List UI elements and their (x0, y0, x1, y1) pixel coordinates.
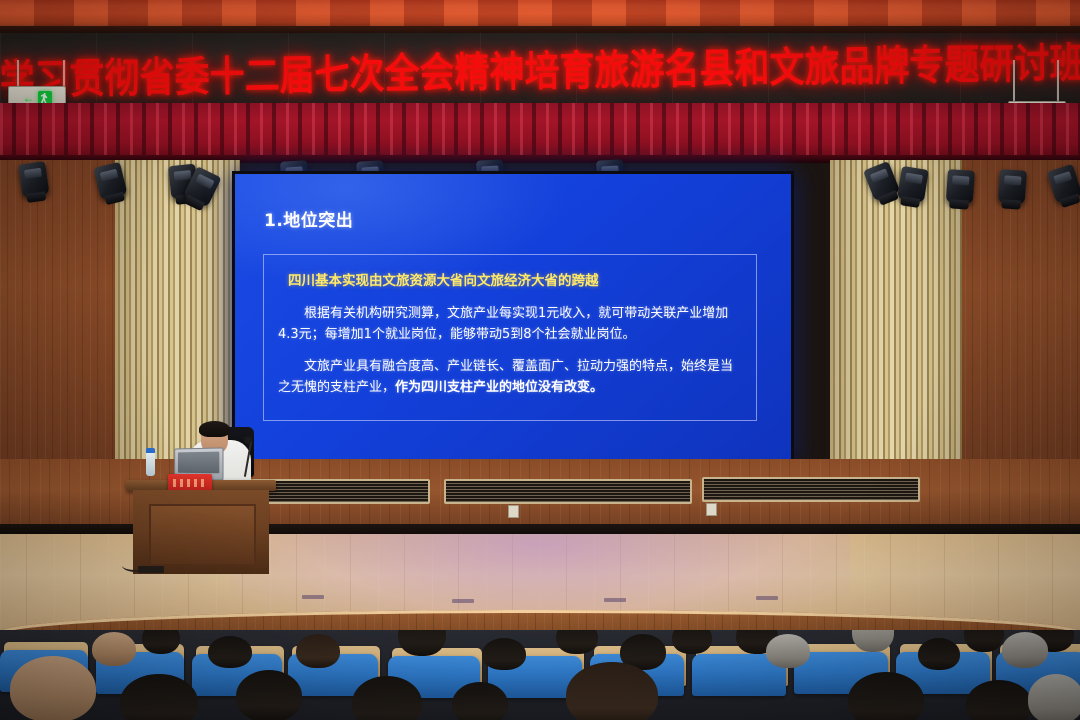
slide-paragraph-2-bold: 作为四川支柱产业的地位没有改变。 (395, 380, 603, 395)
stage-light-11 (946, 169, 975, 204)
audience-head (766, 634, 810, 668)
wall-outlet-1 (508, 505, 519, 518)
floor-marker-2 (452, 599, 474, 603)
audience-head-foreground (566, 662, 658, 720)
wall-vent-2 (444, 479, 692, 504)
audience-head (918, 638, 960, 670)
presenter-hair (199, 421, 230, 437)
slide-heading: 四川基本实现由文旅资源大省向文旅经济大省的跨越 (288, 269, 742, 289)
audience-head-foreground (966, 680, 1032, 720)
audience-head-foreground (1028, 674, 1080, 720)
floor-cable-box (138, 566, 164, 573)
valance-pleats (0, 103, 1080, 161)
floor-marker-4 (756, 596, 778, 600)
audience-head (482, 638, 526, 670)
exit-sign-rod-right-b (1057, 60, 1059, 102)
water-bottle-cap (146, 448, 155, 453)
lectern-front-panel (149, 504, 256, 566)
stage-light-12 (998, 169, 1027, 204)
wall-outlet-2 (706, 503, 717, 516)
slide-surface: 1.地位突出 四川基本实现由文旅资源大省向文旅经济大省的跨越 根据有关机构研究测… (235, 174, 791, 462)
audience-head (672, 630, 712, 654)
slide-paragraph-1-text: 根据有关机构研究测算，文旅产业每实现1元收入，就可带动关联产业增加4.3元；每增… (278, 306, 728, 342)
slide-title: 1.地位突出 (264, 206, 353, 231)
audience-head-foreground (848, 672, 924, 720)
stage-light-1 (18, 161, 49, 197)
floor-marker-1 (302, 595, 324, 599)
audience-head-foreground (236, 670, 302, 720)
slide-paragraph-1: 根据有关机构研究测算，文旅产业每实现1元收入，就可带动关联产业增加4.3元；每增… (278, 303, 742, 345)
audience-seating-area: 成都市 新津区 成都市新津区 (0, 630, 1080, 720)
auditorium-photo: 学习贯彻省委十二届七次全会精神培育旅游名县和文旅品牌专题研讨班 ← → 1.地位… (0, 0, 1080, 720)
audience-head (142, 630, 180, 654)
audience-head (1002, 632, 1048, 668)
audience-head (92, 632, 136, 666)
audience-head (296, 634, 340, 668)
audience-head (208, 636, 252, 668)
audience-head-foreground (10, 656, 96, 720)
audience-head-foreground (452, 682, 508, 720)
stage-light-10 (897, 166, 929, 203)
audience-head-foreground (120, 674, 198, 720)
audience-head (556, 630, 598, 654)
wall-vent-3 (702, 477, 920, 502)
slide-paragraph-2: 文旅产业具有融合度高、产业链长、覆盖面广、拉动力强的特点，始终是当之无愧的支柱产… (278, 356, 742, 398)
slide-content-box: 四川基本实现由文旅资源大省向文旅经济大省的跨越 根据有关机构研究测算，文旅产业每… (263, 254, 757, 421)
exit-sign-rod-left-a (17, 60, 19, 86)
water-bottle (146, 452, 155, 476)
microphone-head-icon (244, 436, 252, 444)
floor-marker-3 (604, 598, 626, 602)
exit-sign-rod-left-b (63, 60, 65, 86)
projection-screen: 1.地位突出 四川基本实现由文旅资源大省向文旅经济大省的跨越 根据有关机构研究测… (232, 171, 794, 465)
exit-sign-rod-right-a (1013, 60, 1015, 102)
